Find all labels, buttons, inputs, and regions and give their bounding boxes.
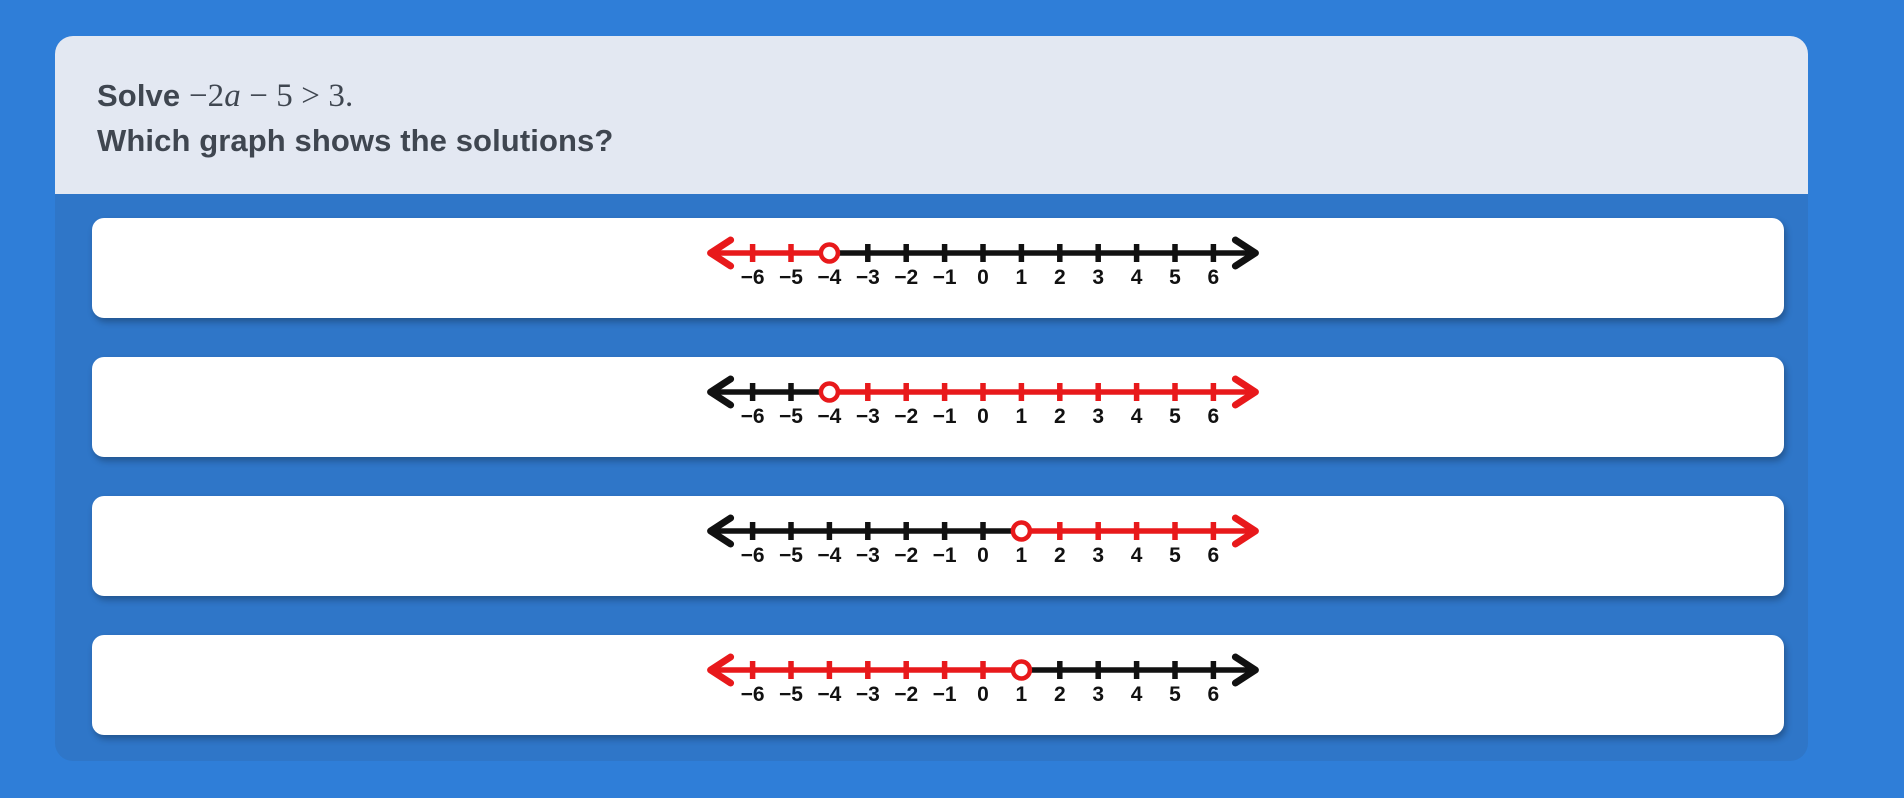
tick-label: −4 (817, 683, 841, 706)
tick-label: 0 (977, 405, 989, 428)
quiz-screen: Solve −2a − 5 > 3. Which graph shows the… (0, 0, 1904, 798)
tick-label: −2 (894, 544, 918, 567)
inequality-constant: 5 (276, 78, 293, 114)
answer-choice-b[interactable]: −6−5−4−3−2−10123456 (92, 357, 1784, 457)
tick-label: −1 (933, 266, 957, 289)
number-line-svg: −6−5−4−3−2−10123456 (703, 644, 1264, 712)
tick-label: −2 (894, 405, 918, 428)
tick-label: 1 (1016, 683, 1028, 706)
number-line-svg: −6−5−4−3−2−10123456 (703, 505, 1264, 573)
tick-label: −6 (741, 405, 765, 428)
tick-label: −3 (856, 266, 880, 289)
tick-label: −3 (856, 683, 880, 706)
tick-label: −1 (933, 405, 957, 428)
question-header: Solve −2a − 5 > 3. Which graph shows the… (55, 36, 1808, 194)
number-line-a: −6−5−4−3−2−10123456 (92, 218, 1784, 318)
tick-label: 3 (1092, 683, 1104, 706)
tick-label: −1 (933, 683, 957, 706)
tick-label: −6 (741, 683, 765, 706)
tick-label: 2 (1054, 266, 1066, 289)
number-line-svg: −6−5−4−3−2−10123456 (703, 227, 1264, 295)
tick-label: 4 (1131, 683, 1143, 706)
tick-label: −5 (779, 683, 803, 706)
tick-label: −6 (741, 266, 765, 289)
answer-choice-c[interactable]: −6−5−4−3−2−10123456 (92, 496, 1784, 596)
question-text-line-2: Which graph shows the solutions? (97, 120, 1808, 163)
question-text-line-1: Solve −2a − 5 > 3. (97, 74, 1808, 120)
inequality-expression: −2a − 5 > 3. (189, 78, 353, 114)
inequality-period: . (345, 78, 353, 114)
tick-label: −2 (894, 683, 918, 706)
tick-label: 1 (1016, 266, 1028, 289)
tick-label: 2 (1054, 544, 1066, 567)
inequality-relation: > (301, 78, 320, 114)
inequality-rhs: 3 (328, 78, 345, 114)
number-line-d: −6−5−4−3−2−10123456 (92, 635, 1784, 735)
tick-label: −3 (856, 544, 880, 567)
tick-label: −5 (779, 266, 803, 289)
tick-label: 3 (1092, 266, 1104, 289)
answer-choice-list: −6−5−4−3−2−10123456 −6−5−4−3−2−10123456 … (92, 218, 1784, 735)
tick-label: −5 (779, 405, 803, 428)
tick-label: 6 (1208, 683, 1220, 706)
tick-label: 6 (1208, 405, 1220, 428)
tick-label: 2 (1054, 683, 1066, 706)
open-circle-endpoint (1013, 662, 1030, 679)
tick-label: −4 (817, 266, 841, 289)
tick-label: −3 (856, 405, 880, 428)
tick-label: 0 (977, 683, 989, 706)
tick-label: −6 (741, 544, 765, 567)
tick-label: 0 (977, 266, 989, 289)
number-line-c: −6−5−4−3−2−10123456 (92, 496, 1784, 596)
tick-label: 4 (1131, 405, 1143, 428)
answer-choice-a[interactable]: −6−5−4−3−2−10123456 (92, 218, 1784, 318)
answer-choice-d[interactable]: −6−5−4−3−2−10123456 (92, 635, 1784, 735)
tick-label: 5 (1169, 544, 1181, 567)
tick-label: 2 (1054, 405, 1066, 428)
tick-label: −4 (817, 544, 841, 567)
tick-label: 4 (1131, 266, 1143, 289)
tick-label: 3 (1092, 544, 1104, 567)
tick-label: 1 (1016, 544, 1028, 567)
inequality-coefficient: −2 (189, 78, 224, 114)
tick-label: 5 (1169, 405, 1181, 428)
inequality-minus: − (249, 78, 268, 114)
tick-label: −1 (933, 544, 957, 567)
tick-label: 6 (1208, 544, 1220, 567)
tick-label: 1 (1016, 405, 1028, 428)
tick-label: −2 (894, 266, 918, 289)
tick-label: 0 (977, 544, 989, 567)
inequality-variable: a (224, 78, 241, 114)
tick-label: −4 (817, 405, 841, 428)
tick-label: 5 (1169, 266, 1181, 289)
tick-label: 5 (1169, 683, 1181, 706)
tick-label: 3 (1092, 405, 1104, 428)
tick-label: 6 (1208, 266, 1220, 289)
open-circle-endpoint (821, 384, 838, 401)
open-circle-endpoint (1013, 523, 1030, 540)
tick-label: 4 (1131, 544, 1143, 567)
tick-label: −5 (779, 544, 803, 567)
prompt-prefix: Solve (97, 78, 180, 113)
number-line-svg: −6−5−4−3−2−10123456 (703, 366, 1264, 434)
number-line-b: −6−5−4−3−2−10123456 (92, 357, 1784, 457)
open-circle-endpoint (821, 245, 838, 262)
